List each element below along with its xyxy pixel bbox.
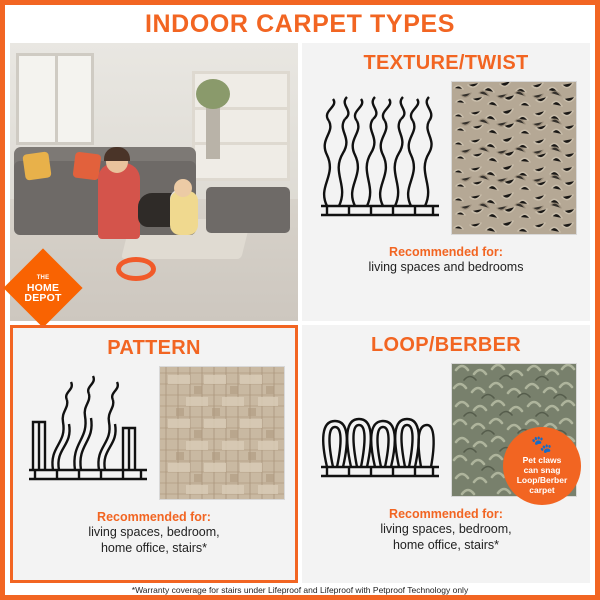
woman [98,163,140,239]
pet-warning-line3: Loop/Berber [517,475,568,485]
carpet-type-grid: THE HOME DEPOT TEXTURE/TWIST [5,43,595,590]
pillow-yellow [22,151,51,180]
page-title: INDOOR CARPET TYPES [145,10,455,39]
texture-twist-swatch [451,81,577,235]
child [170,191,198,235]
pet-warning-badge: 🐾 Pet claws can snag Loop/Berber carpet [503,427,581,505]
pattern-panel: PATTERN [10,325,298,583]
pattern-recommended-text-line2: home office, stairs* [13,541,295,556]
paw-icon: 🐾 [531,437,552,453]
texture-twist-illustration-row [302,81,590,235]
pattern-recommended-text-line1: living spaces, bedroom, [13,525,295,540]
pattern-fiber-diagram [23,366,153,494]
texture-twist-swatch-texture [452,82,576,234]
child-head [174,179,192,197]
plant-foliage [196,79,230,109]
pattern-recommended-label: Recommended for: [13,510,295,524]
ottoman [206,187,290,233]
loop-berber-recommended-text-line2: home office, stairs* [302,538,590,553]
loop-berber-recommended-text-line1: living spaces, bedroom, [302,522,590,537]
logo-line-depot: DEPOT [24,293,61,303]
pattern-swatch [159,366,285,500]
texture-twist-title: TEXTURE/TWIST [302,52,590,75]
home-depot-logo-text: THE HOME DEPOT [15,260,71,316]
pet-warning-line2: can snag [524,465,561,475]
footer: *Warranty coverage for stairs under Life… [5,585,595,595]
texture-twist-recommended-text: living spaces and bedrooms [302,260,590,275]
loop-berber-fiber-diagram [315,363,445,491]
texture-twist-panel: TEXTURE/TWIST [302,43,590,321]
loop-berber-title: LOOP/BERBER [302,334,590,357]
loop-berber-recommended-label: Recommended for: [302,507,590,521]
window [16,53,94,145]
texture-twist-recommended-label: Recommended for: [302,245,590,259]
home-depot-logo: THE HOME DEPOT [3,248,82,327]
footer-disclaimer: *Warranty coverage for stairs under Life… [132,585,468,595]
loop-berber-panel: LOOP/BERBER [302,325,590,583]
living-room-photo: THE HOME DEPOT [10,43,298,321]
pet-warning-line4: carpet [529,485,555,495]
pattern-illustration-row [13,366,295,500]
dog-toy [116,257,156,281]
texture-twist-fiber-diagram [315,81,445,231]
header: INDOOR CARPET TYPES [5,5,595,43]
pet-warning-line1: Pet claws [523,455,562,465]
infographic-page: INDOOR CARPET TYPES [0,0,600,600]
pattern-title: PATTERN [13,337,295,360]
pattern-swatch-texture [160,367,284,499]
